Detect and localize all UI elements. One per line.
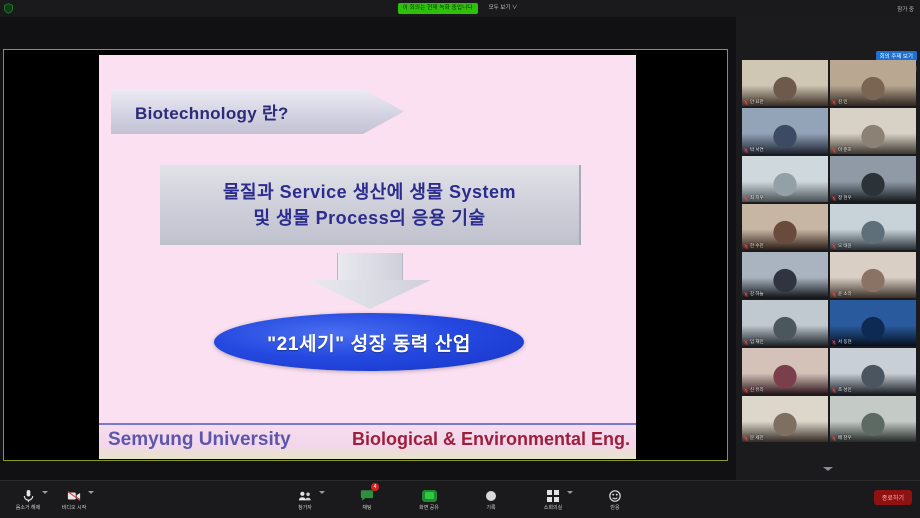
microphone-muted-icon <box>832 148 836 153</box>
microphone-muted-icon <box>832 100 836 105</box>
microphone-muted-icon <box>744 340 748 345</box>
participant-name: 이 준호 <box>838 147 852 153</box>
toolbar-chat-button[interactable]: 채팅4 <box>345 483 389 517</box>
chevron-down-icon[interactable] <box>319 491 325 494</box>
participant-name: 문 세진 <box>750 435 764 441</box>
toolbar-item-label: 소회의실 <box>544 505 562 512</box>
microphone-muted-icon <box>744 196 748 201</box>
microphone-muted-icon <box>744 292 748 297</box>
participant-name-label: 김 민 <box>832 99 848 105</box>
top-bar: 이 회의는 현재 녹화 중입니다 모두 보기 ∨ 참가 중 <box>0 0 920 17</box>
participant-name-label: 서 동현 <box>832 339 852 345</box>
participant-tile[interactable]: 박 서연 <box>742 108 828 154</box>
recording-badge: 이 회의는 현재 녹화 중입니다 <box>398 3 478 14</box>
participant-name: 한 수진 <box>750 243 764 249</box>
microphone-muted-icon <box>832 244 836 249</box>
footer-university: Semyung University <box>108 429 291 451</box>
slide-body-line-2: 및 생물 Process의 응용 기술 <box>253 205 485 231</box>
participant-name-label: 조 성민 <box>832 387 852 393</box>
toolbar-item-label: 참가자 <box>298 505 312 512</box>
zoom-meeting-window: 이 회의는 현재 녹화 중입니다 모두 보기 ∨ 참가 중 Biotechnol… <box>0 0 920 518</box>
participant-name: 신 유리 <box>750 387 764 393</box>
participant-tile[interactable]: 정 현우 <box>830 156 916 202</box>
slide-highlight-ellipse: "21세기" 성장 동력 산업 <box>214 313 524 371</box>
slide-highlight-text: "21세기" 성장 동력 산업 <box>267 329 471 356</box>
participant-tile[interactable]: 윤 소라 <box>830 252 916 298</box>
participant-tile[interactable]: 강 하늘 <box>742 252 828 298</box>
participant-tile[interactable]: 조 성민 <box>830 348 916 394</box>
microphone-muted-icon <box>832 292 836 297</box>
toolbar-share-screen-button[interactable]: 화면 공유 <box>407 483 451 517</box>
participant-tile[interactable]: 최 지우 <box>742 156 828 202</box>
arrow-stem <box>337 253 403 281</box>
participant-name-label: 박 서연 <box>744 147 764 153</box>
participation-status[interactable]: 참가 중 <box>897 5 914 13</box>
toolbar-participants-button[interactable]: 참가자 <box>283 483 327 517</box>
participant-name: 윤 소라 <box>838 291 852 297</box>
participant-name: 박 서연 <box>750 147 764 153</box>
participant-tile[interactable]: 이 준호 <box>830 108 916 154</box>
toolbar-breakout-rooms-button[interactable]: 소회의실 <box>531 483 575 517</box>
participant-name: 임 재민 <box>750 339 764 345</box>
toolbar-item-label: 반응 <box>610 505 619 512</box>
down-arrow-shape <box>309 253 431 309</box>
participant-name-label: 신 유리 <box>744 387 764 393</box>
participant-name: 강 하늘 <box>750 291 764 297</box>
participant-name-label: 문 세진 <box>744 435 764 441</box>
participant-gallery-panel: 회의 주제 보기 음석희 안 요한김 민박 서연이 준호최 지우정 현우한 수진… <box>736 17 920 480</box>
participant-name-label: 오 태윤 <box>832 243 852 249</box>
microphone-muted-icon <box>744 388 748 393</box>
participant-name: 서 동현 <box>838 339 852 345</box>
participants-icon <box>298 489 313 503</box>
panel-collapse-button[interactable] <box>736 462 920 476</box>
participant-tile[interactable]: 서 동현 <box>830 300 916 346</box>
toolbar-record-button[interactable]: 기록 <box>469 483 513 517</box>
participant-name-label: 한 수진 <box>744 243 764 249</box>
participant-name: 김 민 <box>838 99 848 105</box>
participant-name: 정 현우 <box>838 195 852 201</box>
arrow-head <box>309 280 431 309</box>
participant-name-label: 정 현우 <box>832 195 852 201</box>
end-meeting-button[interactable]: 종료하기 <box>874 490 912 505</box>
slide-body-line-1: 물질과 Service 생산에 생물 System <box>223 179 516 205</box>
microphone-muted-icon <box>744 100 748 105</box>
unread-badge: 4 <box>371 483 379 491</box>
presentation-slide: Biotechnology 란? 물질과 Service 생산에 생물 Syst… <box>99 55 636 459</box>
reactions-icon <box>608 489 623 503</box>
footer-department: Biological & Environmental Eng. <box>352 429 630 450</box>
chevron-down-icon <box>823 467 833 471</box>
toolbar-center-group: 참가자채팅4화면 공유기록소회의실반응 <box>0 483 920 517</box>
participant-tile[interactable]: 한 수진 <box>742 204 828 250</box>
top-bar-center: 이 회의는 현재 녹화 중입니다 모두 보기 ∨ <box>0 0 920 17</box>
toolbar-reactions-button[interactable]: 반응 <box>593 483 637 517</box>
participant-name-label: 안 요한 <box>744 99 764 105</box>
toolbar-item-label: 기록 <box>486 505 495 512</box>
participant-name-label: 윤 소라 <box>832 291 852 297</box>
participant-name: 오 태윤 <box>838 243 852 249</box>
participant-tile-grid: 안 요한김 민박 서연이 준호최 지우정 현우한 수진오 태윤강 하늘윤 소라임… <box>742 60 918 444</box>
participant-name-label: 임 재민 <box>744 339 764 345</box>
participant-name-label: 이 준호 <box>832 147 852 153</box>
microphone-muted-icon <box>744 244 748 249</box>
participant-name: 배 찬우 <box>838 435 852 441</box>
slide-title-arrow: Biotechnology 란? <box>111 89 404 134</box>
slide-footer: Semyung University Biological & Environm… <box>99 423 636 459</box>
view-all-button[interactable]: 모두 보기 ∨ <box>484 3 523 14</box>
record-icon <box>484 489 499 503</box>
microphone-muted-icon <box>744 148 748 153</box>
participant-tile[interactable]: 김 민 <box>830 60 916 106</box>
participant-name-label: 최 지우 <box>744 195 764 201</box>
chevron-down-icon[interactable] <box>567 491 573 494</box>
toolbar-item-label: 화면 공유 <box>419 505 439 512</box>
participant-tile[interactable]: 임 재민 <box>742 300 828 346</box>
participant-tile[interactable]: 배 찬우 <box>830 396 916 442</box>
participant-tile[interactable]: 신 유리 <box>742 348 828 394</box>
microphone-muted-icon <box>744 436 748 441</box>
participant-name-label: 배 찬우 <box>832 435 852 441</box>
top-bar-right: 참가 중 <box>897 0 914 17</box>
shared-screen-region[interactable]: Biotechnology 란? 물질과 Service 생산에 생물 Syst… <box>3 49 728 461</box>
toolbar-item-label: 채팅 <box>362 505 371 512</box>
participant-name: 최 지우 <box>750 195 764 201</box>
participant-name: 안 요한 <box>750 99 764 105</box>
microphone-muted-icon <box>832 388 836 393</box>
bottom-toolbar: 음소거 해제비디오 시작 참가자채팅4화면 공유기록소회의실반응 종료하기 <box>0 480 920 518</box>
breakout-rooms-icon <box>546 489 561 503</box>
participant-tile[interactable]: 문 세진 <box>742 396 828 442</box>
participant-name: 조 성민 <box>838 387 852 393</box>
microphone-muted-icon <box>832 340 836 345</box>
microphone-muted-icon <box>832 196 836 201</box>
participant-name-label: 강 하늘 <box>744 291 764 297</box>
share-screen-icon <box>422 489 437 503</box>
participant-tile[interactable]: 오 태윤 <box>830 204 916 250</box>
participant-tile[interactable]: 안 요한 <box>742 60 828 106</box>
share-screen-glyph <box>422 490 437 502</box>
slide-definition-box: 물질과 Service 생산에 생물 System 및 생물 Process의 … <box>160 165 581 245</box>
slide-title: Biotechnology 란? <box>111 99 289 124</box>
microphone-muted-icon <box>832 436 836 441</box>
